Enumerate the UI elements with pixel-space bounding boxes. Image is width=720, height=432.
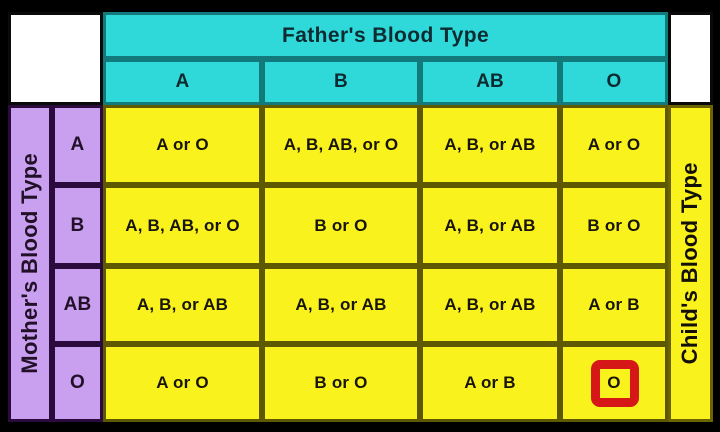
table-cell-mother-o-father-a[interactable]: A or O bbox=[103, 344, 262, 422]
father-column-header-ab[interactable]: AB bbox=[420, 59, 560, 105]
father-column-header-b[interactable]: B bbox=[262, 59, 420, 105]
mother-row-header-a[interactable]: A bbox=[52, 105, 103, 185]
table-cell-mother-b-father-o[interactable]: B or O bbox=[560, 185, 668, 266]
table-cell-mother-ab-father-b[interactable]: A, B, or AB bbox=[262, 266, 420, 344]
mother-row-header-o[interactable]: O bbox=[52, 344, 103, 422]
father-blood-type-header: Father's Blood Type bbox=[103, 12, 668, 59]
blank-corner-top-left bbox=[8, 12, 103, 105]
table-cell-mother-o-father-o[interactable]: O bbox=[560, 344, 668, 422]
table-cell-mother-ab-father-ab[interactable]: A, B, or AB bbox=[420, 266, 560, 344]
father-column-header-a[interactable]: A bbox=[103, 59, 262, 105]
table-cell-mother-o-father-b[interactable]: B or O bbox=[262, 344, 420, 422]
table-cell-mother-b-father-a[interactable]: A, B, AB, or O bbox=[103, 185, 262, 266]
mother-row-header-b[interactable]: B bbox=[52, 185, 103, 266]
table-cell-mother-b-father-ab[interactable]: A, B, or AB bbox=[420, 185, 560, 266]
table-cell-mother-ab-father-o[interactable]: A or B bbox=[560, 266, 668, 344]
blank-corner-top-right bbox=[668, 12, 713, 105]
table-cell-mother-o-father-ab[interactable]: A or B bbox=[420, 344, 560, 422]
father-column-header-o[interactable]: O bbox=[560, 59, 668, 105]
blood-type-inheritance-table: Father's Blood Type A B AB O Mother's Bl… bbox=[0, 0, 720, 432]
table-cell-mother-a-father-b[interactable]: A, B, AB, or O bbox=[262, 105, 420, 185]
table-cell-mother-a-father-o[interactable]: A or O bbox=[560, 105, 668, 185]
mother-blood-type-label: Mother's Blood Type bbox=[18, 153, 43, 374]
mother-row-header-ab[interactable]: AB bbox=[52, 266, 103, 344]
table-cell-mother-a-father-a[interactable]: A or O bbox=[103, 105, 262, 185]
child-blood-type-label: Child's Blood Type bbox=[678, 162, 703, 364]
table-cell-mother-b-father-b[interactable]: B or O bbox=[262, 185, 420, 266]
table-cell-mother-ab-father-a[interactable]: A, B, or AB bbox=[103, 266, 262, 344]
table-cell-mother-a-father-ab[interactable]: A, B, or AB bbox=[420, 105, 560, 185]
child-blood-type-header: Child's Blood Type bbox=[668, 105, 713, 422]
mother-blood-type-header: Mother's Blood Type bbox=[8, 105, 52, 422]
